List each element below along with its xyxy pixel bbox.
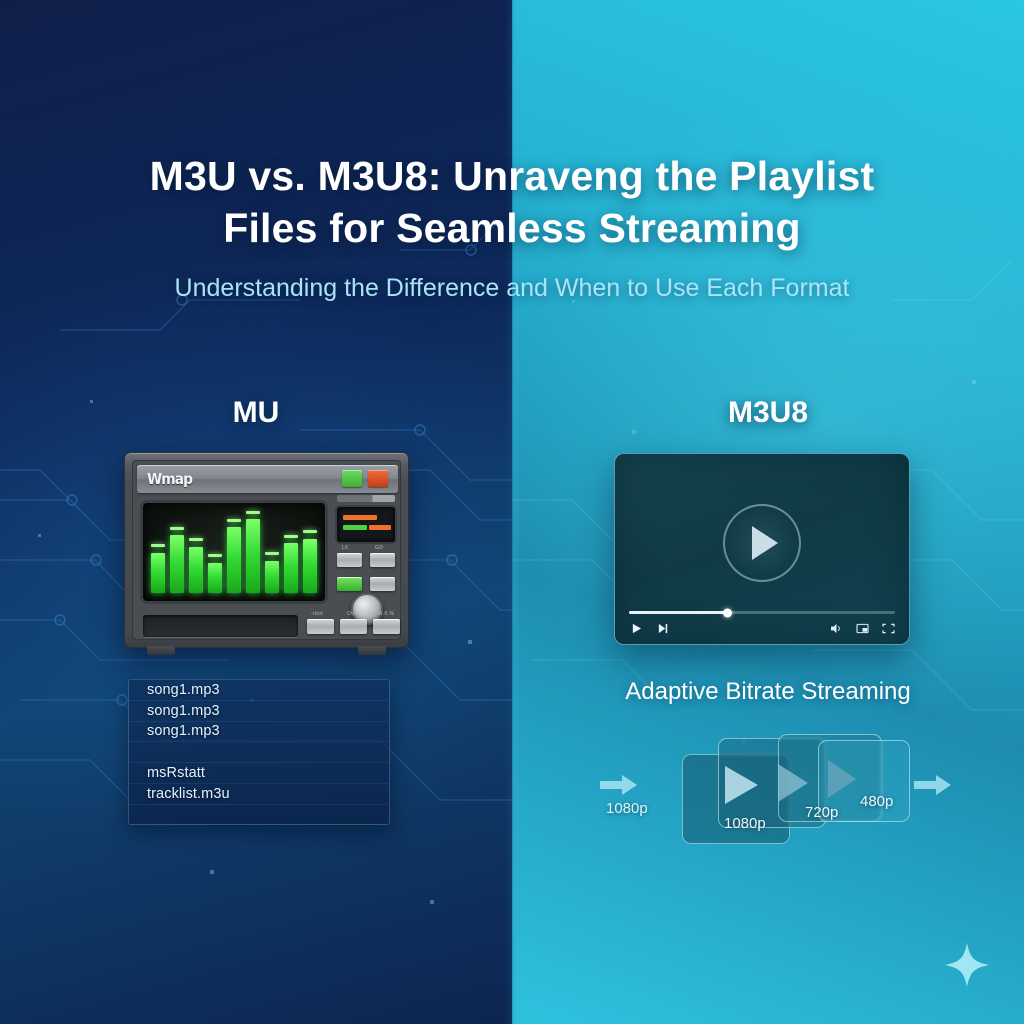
transport-button-2[interactable] <box>340 619 367 634</box>
equalizer-bar-fill <box>208 563 222 593</box>
play-triangle-icon <box>752 526 778 560</box>
equalizer-peak-cap <box>303 530 317 533</box>
equalizer-bars <box>151 513 317 593</box>
play-icon[interactable] <box>629 621 643 635</box>
progress-bar-fill <box>629 611 727 614</box>
mode-button-off[interactable] <box>370 577 395 591</box>
equalizer-bar-fill <box>170 535 184 593</box>
visualizer-screen <box>143 503 325 601</box>
play-button[interactable] <box>723 504 801 582</box>
playlist-row[interactable] <box>129 742 389 763</box>
equalizer-bar-6 <box>246 513 260 593</box>
tile-play-icon-1 <box>725 766 758 804</box>
mode-button-on[interactable] <box>337 577 362 591</box>
lcd-bar-orange-1 <box>343 515 377 520</box>
equalizer-peak-cap <box>227 519 241 522</box>
equalizer-bar-fill <box>246 519 260 593</box>
equalizer-bar-fill <box>227 527 241 593</box>
picture-in-picture-icon[interactable] <box>855 621 869 635</box>
playlist-row[interactable]: tracklist.m3u <box>129 784 389 805</box>
sparkle-icon <box>944 942 990 988</box>
playlist-rows: song1.mp3song1.mp3song1.mp3msRstatttrack… <box>129 680 389 805</box>
fullscreen-icon[interactable] <box>881 621 895 635</box>
lcd-bar-green <box>343 525 367 530</box>
video-right-controls <box>829 621 895 635</box>
equalizer-bar-2 <box>170 513 184 593</box>
source-quality-label: 1080p <box>606 800 648 817</box>
section-label-m3u8: M3U8 <box>512 396 1024 430</box>
quality-label-720p: 720p <box>805 804 838 821</box>
equalizer-bar-fill <box>265 561 279 593</box>
equalizer-bar-1 <box>151 513 165 593</box>
player-meter-strip-icon <box>337 495 395 502</box>
progress-bar-handle[interactable] <box>723 608 732 617</box>
playlist-row[interactable]: song1.mp3 <box>129 680 389 701</box>
volume-icon[interactable] <box>829 621 843 635</box>
tile-play-icon-2 <box>778 764 808 802</box>
video-controls-bar <box>629 620 895 636</box>
playlist-row[interactable]: song1.mp3 <box>129 701 389 722</box>
transport-button-2-label: Otr <box>347 611 355 617</box>
equalizer-peak-cap <box>208 554 222 557</box>
transport-button-3-label: st.0.% <box>378 611 394 617</box>
m3u-playlist-panel[interactable]: M3U song1.mp3song1.mp3song1.mp3msRstattt… <box>128 679 390 825</box>
transport-button-3[interactable] <box>373 619 400 634</box>
equalizer-peak-cap <box>284 535 298 538</box>
side-button-1[interactable] <box>337 553 362 567</box>
playlist-row[interactable]: msRstatt <box>129 763 389 784</box>
page-title-line-1: M3U vs. M3U8: Unraveng the Playlist <box>150 153 875 199</box>
player-titlebar: Wmap <box>137 465 398 493</box>
side-button-2-label: GD <box>375 545 383 551</box>
side-button-2[interactable] <box>370 553 395 567</box>
equalizer-bar-fill <box>303 539 317 593</box>
equalizer-peak-cap <box>189 538 203 541</box>
quality-label-480p: 480p <box>860 793 893 810</box>
player-foot-left <box>147 646 175 655</box>
player-lcd-display <box>337 507 395 542</box>
quality-label-1080p: 1080p <box>724 815 766 832</box>
page-title-line-2: Files for Seamless Streaming <box>223 205 801 251</box>
player-logo: Wmap <box>147 470 192 488</box>
adaptive-bitrate-title: Adaptive Bitrate Streaming <box>512 678 1024 706</box>
lcd-bar-orange-2 <box>369 525 391 530</box>
equalizer-bar-9 <box>303 513 317 593</box>
progress-bar[interactable] <box>629 611 895 614</box>
page-subtitle: Understanding the Difference and When to… <box>0 273 1024 303</box>
equalizer-bar-fill <box>284 543 298 593</box>
equalizer-bar-7 <box>265 513 279 593</box>
side-button-1-label: L6 <box>342 545 348 551</box>
disc-tray[interactable] <box>143 615 298 637</box>
arrow-in-icon <box>600 774 638 796</box>
media-player-device[interactable]: Wmap L6 GD -titot Otr st.0.% <box>124 452 409 648</box>
equalizer-bar-5 <box>227 513 241 593</box>
page-title: M3U vs. M3U8: Unraveng the Playlist File… <box>0 150 1024 255</box>
video-player[interactable] <box>614 453 910 645</box>
arrow-out-icon <box>914 774 952 796</box>
player-foot-right <box>358 646 386 655</box>
section-label-m3u: MU <box>0 396 512 430</box>
playlist-row[interactable]: song1.mp3 <box>129 722 389 743</box>
equalizer-peak-cap <box>170 527 184 530</box>
transport-button-1-label: -titot <box>311 611 323 617</box>
equalizer-bar-4 <box>208 513 222 593</box>
equalizer-bar-3 <box>189 513 203 593</box>
equalizer-peak-cap <box>246 511 260 514</box>
equalizer-bar-fill <box>151 553 165 593</box>
equalizer-bar-8 <box>284 513 298 593</box>
next-track-icon[interactable] <box>655 621 669 635</box>
equalizer-peak-cap <box>151 544 165 547</box>
close-button[interactable] <box>368 470 388 487</box>
adaptive-bitrate-diagram: 1080p 1080p 720p 480p <box>600 730 944 850</box>
header-block: M3U vs. M3U8: Unraveng the Playlist File… <box>0 150 1024 303</box>
infographic-canvas: M3U vs. M3U8: Unraveng the Playlist File… <box>0 0 1024 1024</box>
equalizer-peak-cap <box>265 552 279 555</box>
tile-play-icon-3 <box>828 760 856 798</box>
equalizer-bar-fill <box>189 547 203 593</box>
transport-button-1[interactable] <box>307 619 334 634</box>
minimize-button[interactable] <box>342 470 362 487</box>
